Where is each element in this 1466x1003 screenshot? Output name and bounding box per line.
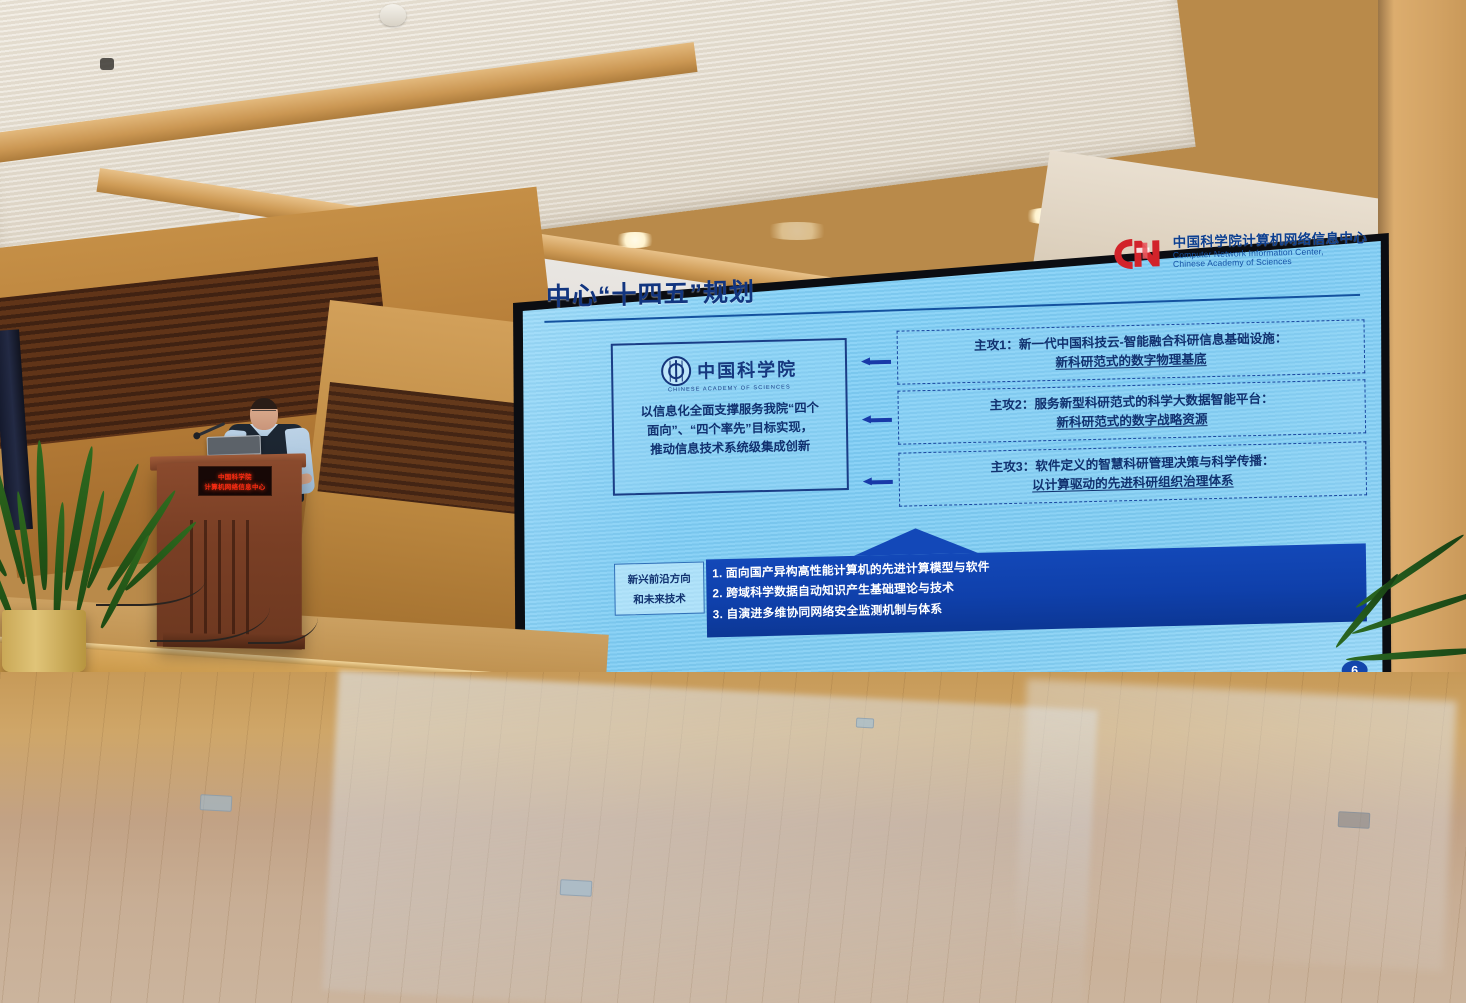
up-arrow-icon bbox=[854, 527, 978, 556]
floor-outlet-4 bbox=[856, 718, 874, 729]
cas-seal-icon bbox=[661, 356, 691, 387]
cnic-logo-block: 中国科学院计算机网络信息中心 Computer Network Informat… bbox=[1113, 229, 1368, 273]
emerging-tech-label-line-1: 新兴前沿方向 bbox=[628, 570, 691, 587]
arrow-left-icon-3 bbox=[863, 477, 893, 487]
arrow-left-icon-2 bbox=[862, 415, 892, 425]
focus-area-box-3: 主攻3：软件定义的智慧科研管理决策与科学传播： 以计算驱动的先进科研组织治理体系 bbox=[898, 441, 1367, 506]
ceiling-speaker-icon bbox=[380, 4, 406, 26]
floor-outlet-2 bbox=[560, 879, 593, 897]
focus-area-box-2: 主攻2：服务新型科研范式的科学大数据智能平台： 新科研范式的数字战略资源 bbox=[897, 379, 1366, 444]
smoke-detector-icon bbox=[100, 58, 114, 70]
floor-reflection-right bbox=[1013, 679, 1457, 971]
podium-sign-line-2: 计算机网络信息中心 bbox=[204, 482, 265, 491]
floor-screen-reflection bbox=[322, 670, 1098, 1003]
cas-logo: 中国科学院 bbox=[613, 352, 845, 388]
cas-mission-text: 以信息化全面支撑服务我院“四个 面向”、“四个率先”目标实现， 推动信息技术系统… bbox=[614, 398, 847, 461]
focus-area-box-1: 主攻1：新一代中国科技云-智能融合科研信息基础设施： 新科研范式的数字物理基底 bbox=[897, 319, 1366, 384]
cnic-logo-icon bbox=[1113, 234, 1166, 273]
cas-name-chinese: 中国科学院 bbox=[697, 355, 797, 383]
emerging-tech-label-line-2: 和未来技术 bbox=[633, 590, 686, 606]
cnic-name-english-2: Chinese Academy of Sciences bbox=[1173, 256, 1368, 270]
presentation-slide: 中国科学院计算机网络信息中心 Computer Network Informat… bbox=[517, 207, 1392, 710]
conference-hall-photo: 中国科学院计算机网络信息中心 Computer Network Informat… bbox=[0, 0, 1466, 1003]
cas-mission-line-3: 推动信息技术系统级集成创新 bbox=[626, 436, 834, 460]
slide-title: 中心“十四五”规划 bbox=[546, 272, 755, 313]
cas-mission-box: 中国科学院 CHINESE ACADEMY OF SCIENCES 以信息化全面… bbox=[611, 338, 849, 496]
podium-sign-line-1: 中国科学院 bbox=[218, 472, 252, 481]
plant-pot-left bbox=[2, 610, 86, 672]
floor-outlet-1 bbox=[200, 794, 233, 812]
podium-led-sign: 中国科学院 计算机网络信息中心 bbox=[198, 466, 272, 496]
cnic-logo-text: 中国科学院计算机网络信息中心 Computer Network Informat… bbox=[1173, 232, 1368, 270]
floor-outlet-3 bbox=[1338, 811, 1371, 829]
speaker-glasses-icon bbox=[252, 410, 276, 417]
arrow-left-icon-1 bbox=[861, 357, 891, 367]
emerging-tech-label: 新兴前沿方向 和未来技术 bbox=[614, 562, 705, 616]
